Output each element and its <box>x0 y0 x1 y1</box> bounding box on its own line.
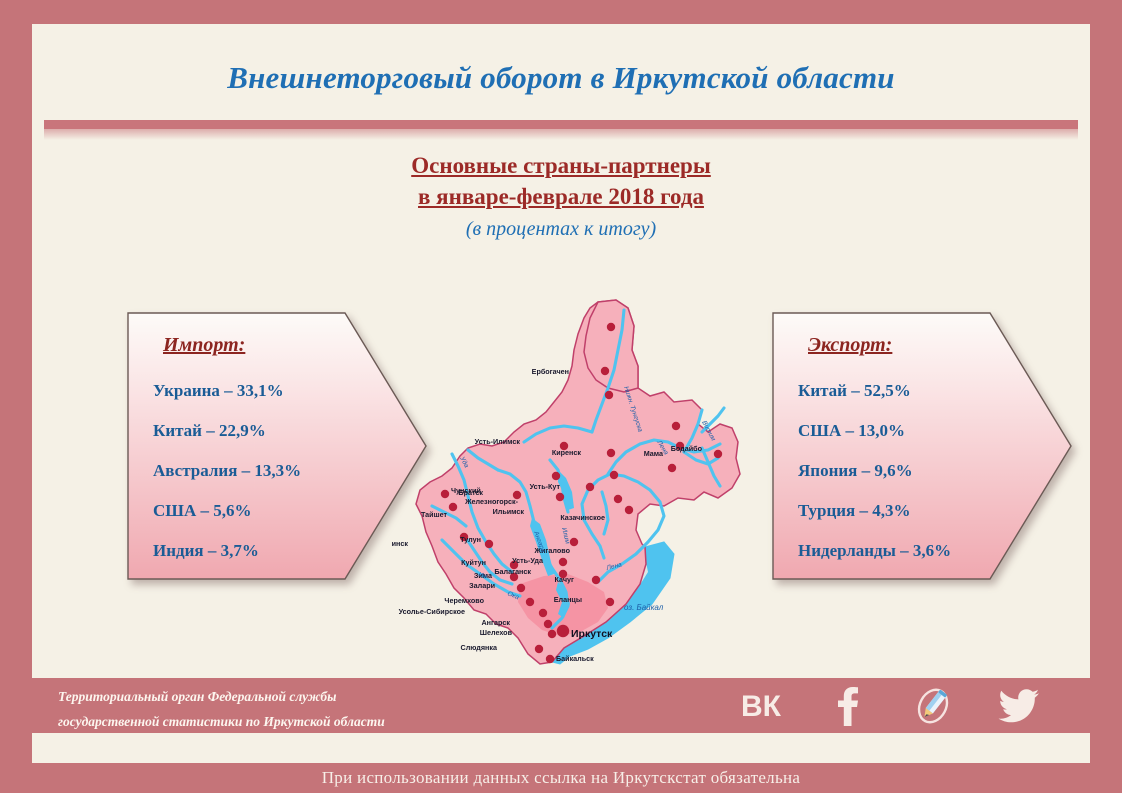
city-dot <box>544 620 552 628</box>
import-callout[interactable]: Импорт: Украина – 33,1% Китай – 22,9% Ав… <box>127 312 427 580</box>
city-dot <box>614 495 622 503</box>
export-row-3: Турция – 4,3% <box>798 491 1002 531</box>
export-row-2: Япония – 9,6% <box>798 451 1002 491</box>
city-dot <box>601 367 609 375</box>
city-dot <box>539 609 547 617</box>
city-dot <box>449 503 457 511</box>
city-label: Шелехов <box>480 628 513 637</box>
city-label: Усолье-Сибирское <box>399 607 465 616</box>
subtitle-line-1: Основные страны-партнеры <box>32 150 1090 181</box>
livejournal-icon[interactable] <box>907 684 959 728</box>
city-dot <box>607 449 615 457</box>
city-label: Балаганск <box>494 567 531 576</box>
import-callout-body: Импорт: Украина – 33,1% Китай – 22,9% Ав… <box>127 312 357 580</box>
footer-cream-strip <box>32 733 1090 763</box>
city-label: Нижнеудинск <box>392 539 408 548</box>
page-title: Внешнеторговый оборот в Иркутской област… <box>32 60 1090 96</box>
city-label: Ербогачен <box>532 367 569 376</box>
city-label: Бодайбо <box>671 444 703 453</box>
import-row-1: Китай – 22,9% <box>153 411 357 451</box>
livejournal-glyph <box>913 686 953 726</box>
title-divider-shadow <box>44 129 1078 140</box>
export-heading: Экспорт: <box>808 334 1002 357</box>
subtitle-line-3: (в процентах к итогу) <box>32 214 1090 245</box>
import-row-2: Австралия – 13,3% <box>153 451 357 491</box>
city-label: Байкальск <box>556 654 594 663</box>
lake-baikal-label: оз. Байкал <box>624 603 664 612</box>
twitter-glyph <box>998 688 1040 724</box>
import-heading: Импорт: <box>163 334 357 357</box>
social-links: ВК <box>735 678 1045 733</box>
city-label: Слюдянка <box>461 643 498 652</box>
city-dot <box>714 450 722 458</box>
copyright-bar: При использовании данных ссылка на Иркут… <box>0 763 1122 793</box>
import-row-4: Индия – 3,7% <box>153 531 357 571</box>
export-callout[interactable]: Экспорт: Китай – 52,5% США – 13,0% Япони… <box>772 312 1072 580</box>
city-label: Качуг <box>555 575 574 584</box>
city-label: Усть-Кут <box>530 482 561 491</box>
city-dot <box>556 493 564 501</box>
irkutsk-oblast-map: ЕрбогаченКиренскМамаБодайбоУсть-ИлимскУс… <box>392 292 752 672</box>
map-svg: ЕрбогаченКиренскМамаБодайбоУсть-ИлимскУс… <box>392 292 752 672</box>
city-dot <box>548 630 556 638</box>
import-row-0: Украина – 33,1% <box>153 371 357 411</box>
city-dot <box>606 598 614 606</box>
slide-root: Внешнеторговый оборот в Иркутской област… <box>0 0 1122 793</box>
facebook-icon[interactable] <box>821 684 873 728</box>
city-dot <box>546 655 554 663</box>
export-callout-body: Экспорт: Китай – 52,5% США – 13,0% Япони… <box>772 312 1002 580</box>
city-label: Черемхово <box>444 596 484 605</box>
vk-icon[interactable]: ВК <box>735 684 787 728</box>
svg-text:ВК: ВК <box>741 691 782 721</box>
capital-dot <box>557 625 569 637</box>
city-dot <box>441 490 449 498</box>
city-label: Братск <box>458 488 483 497</box>
city-label: Киренск <box>552 448 582 457</box>
city-dot <box>668 464 676 472</box>
city-label: Залари <box>469 581 495 590</box>
capital-label: Иркутск <box>571 628 613 640</box>
city-dot <box>552 472 560 480</box>
city-dot <box>610 471 618 479</box>
subtitle-block: Основные страны-партнеры в январе-феврал… <box>32 150 1090 245</box>
city-dot <box>535 645 543 653</box>
twitter-icon[interactable] <box>993 684 1045 728</box>
organization-line-1: Территориальный орган Федеральной службы <box>58 684 618 709</box>
content-panel: Внешнеторговый оборот в Иркутской област… <box>32 24 1090 678</box>
city-label: Ильимск <box>493 507 525 516</box>
organization-name: Территориальный орган Федеральной службы… <box>58 684 618 734</box>
city-label: Тулун <box>460 535 481 544</box>
city-label: Куйтун <box>461 558 486 567</box>
facebook-glyph <box>832 686 862 726</box>
city-label: Казачинское <box>560 513 605 522</box>
export-row-0: Китай – 52,5% <box>798 371 1002 411</box>
city-dot <box>485 540 493 548</box>
export-row-4: Нидерланды – 3,6% <box>798 531 1002 571</box>
city-dot <box>517 584 525 592</box>
organization-line-2: государственной статистики по Иркутской … <box>58 709 618 734</box>
city-label: Железногорск- <box>464 497 519 506</box>
city-dot <box>605 391 613 399</box>
copyright-text: При использовании данных ссылка на Иркут… <box>322 768 801 788</box>
vk-glyph: ВК <box>739 691 783 721</box>
city-label: Тайшет <box>421 510 448 519</box>
city-dot <box>592 576 600 584</box>
city-dot <box>559 558 567 566</box>
export-row-1: США – 13,0% <box>798 411 1002 451</box>
city-dot <box>586 483 594 491</box>
title-divider <box>44 120 1078 129</box>
subtitle-line-2: в январе-феврале 2018 года <box>32 181 1090 212</box>
city-label: Усть-Уда <box>512 556 544 565</box>
city-label: Усть-Илимск <box>475 437 521 446</box>
city-dot <box>526 598 534 606</box>
city-label: Еланцы <box>554 595 582 604</box>
import-row-3: США – 5,6% <box>153 491 357 531</box>
city-dot <box>607 323 615 331</box>
city-dot <box>672 422 680 430</box>
city-label: Ангарск <box>481 618 510 627</box>
city-dot <box>625 506 633 514</box>
